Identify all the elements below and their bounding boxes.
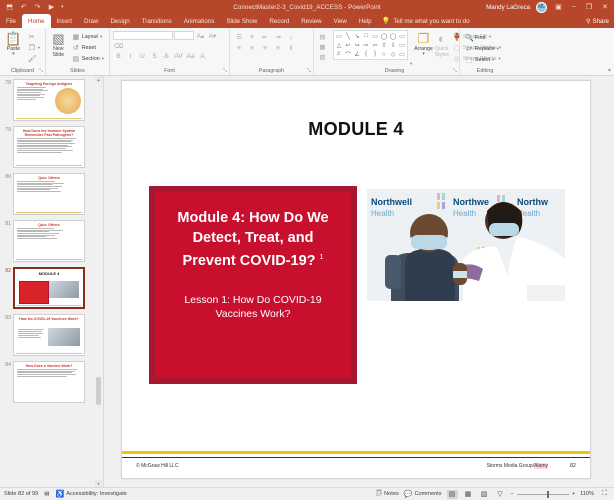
thumbnail-row-81[interactable]: 81 Quiz: Others [3, 220, 89, 262]
bold-button[interactable]: B [113, 52, 124, 61]
photo-credit-link[interactable]: Alamy [534, 463, 548, 469]
shape-down-arrow-icon[interactable]: ⇩ [389, 41, 397, 49]
save-icon[interactable]: ⬒ [5, 3, 14, 12]
select-caret-icon[interactable]: ▾ [492, 57, 494, 63]
card-heading-text: Module 4: How Do We Detect, Treat, and P… [177, 210, 328, 269]
shape-curve-icon[interactable]: ↩ [344, 41, 352, 49]
shape-left-arrow-icon[interactable]: ⇦ [371, 41, 379, 49]
thumbnail-row-84[interactable]: 84 How Does a Vaccine Work? [3, 361, 89, 403]
slide-thumbnail[interactable]: Quiz: Others [13, 173, 85, 215]
shape-triangle-icon[interactable]: △ [335, 41, 343, 49]
font-name-input[interactable] [113, 31, 173, 40]
status-bar: Slide 82 of 99 ▤ ♿ Accessibility: Invest… [0, 487, 614, 500]
quick-access-toolbar: ⬒ ↶ ↷ ▶ ▾ [0, 3, 64, 12]
share-person-icon: ⚲ [586, 18, 591, 25]
module-title-card[interactable]: Module 4: How Do We Detect, Treat, and P… [149, 186, 357, 384]
shape-diamond-icon[interactable]: ◇ [389, 50, 397, 58]
shape-left-brace-icon[interactable]: { [362, 50, 370, 58]
align-text-button[interactable]: ▦ [317, 42, 328, 51]
copy-caret-icon[interactable]: ▾ [38, 45, 40, 51]
slide-thumbnail[interactable]: How Does the Immune System Remember Past… [13, 126, 85, 168]
shape-freeform-icon[interactable]: ♬ [335, 50, 343, 58]
shape-right-brace-icon[interactable]: } [371, 50, 379, 58]
thumbnail-body [14, 368, 84, 378]
thumbnail-body [14, 227, 84, 240]
thumbnail-body [14, 137, 84, 153]
paragraph-extra-label [317, 67, 327, 75]
thumbnail-title: MODULE 4 [15, 269, 83, 276]
shape-more-1-icon[interactable]: ▭ [398, 32, 406, 40]
title-bar-right: Mandy LaGreca ML ▣ − ❐ ✕ [486, 2, 614, 13]
layout-label: Layout [82, 34, 98, 40]
vaccine-photo-illustration: Northwell Northwe Northw Health Health H… [367, 189, 565, 301]
layout-caret-icon[interactable]: ▾ [100, 34, 102, 40]
shape-right-arrow-icon[interactable]: ⇨ [362, 41, 370, 49]
columns-button[interactable]: ‖ [285, 43, 297, 53]
slide-with-caption: MODULE 4 Module 4: How Do We Detect, Tre… [121, 80, 591, 479]
copy-icon: ❐ [28, 44, 36, 52]
avatar[interactable]: ML [536, 2, 547, 13]
tab-file[interactable]: File [0, 14, 22, 28]
title-bar: ⬒ ↶ ↷ ▶ ▾ ConnectMaster2-3_Covid19_ACCES… [0, 0, 614, 14]
redo-icon[interactable]: ↷ [33, 3, 42, 12]
thumbnail-number: 83 [3, 314, 11, 321]
scroll-up-arrow-icon[interactable]: ▴ [95, 76, 102, 83]
tell-me-placeholder: Tell me what you want to do [393, 18, 469, 25]
paragraph-group-label: Paragraph [233, 67, 310, 75]
font-color-button[interactable]: A [197, 52, 208, 61]
slide-thumbnail-panel[interactable]: 78 Targeting Foreign Antigens [0, 76, 104, 487]
share-button[interactable]: ⚲ Share [586, 14, 614, 28]
thumbnail-row-79[interactable]: 79 How Does the Immune System Remember P… [3, 126, 89, 168]
align-right-button[interactable]: ≡ [259, 43, 271, 53]
notes-icon: 🗊 [376, 489, 382, 500]
layout-icon: ▦ [72, 33, 80, 41]
thumbnail-body [14, 180, 84, 193]
copy-button[interactable]: ❐▾ [26, 43, 42, 53]
justify-button[interactable]: ≡ [272, 43, 284, 53]
zoom-control[interactable]: − + [511, 491, 576, 497]
current-slide[interactable]: MODULE 4 Module 4: How Do We Detect, Tre… [121, 80, 591, 479]
align-center-button[interactable]: ≡ [246, 43, 258, 53]
slide-thumbnail[interactable]: Quiz: Others [13, 220, 85, 262]
bullets-button[interactable]: ☰ [233, 32, 245, 42]
ribbon-tab-bar: File Home Insert Draw Design Transitions… [0, 14, 614, 28]
numbering-button[interactable]: ≡ [246, 32, 258, 42]
decrease-indent-button[interactable]: ⇤ [259, 32, 271, 42]
customize-qat-caret-icon[interactable]: ▾ [61, 4, 64, 10]
ribbon-group-paragraph: ☰ ≡ ⇤ ⇥ ↕ ≡ ≡ ≡ ≡ ‖ Paragraph ⤡ [230, 28, 314, 75]
user-name-label: Mandy LaGreca [486, 4, 530, 11]
shape-rounded-rect-icon[interactable]: ▭ [371, 32, 379, 40]
shape-circle-icon[interactable]: ◯ [380, 32, 388, 40]
thumbnail-row-80[interactable]: 80 Quiz: Others [3, 173, 89, 215]
convert-smartart-button[interactable]: ▧ [317, 52, 328, 61]
card-heading-superscript: 1 [320, 254, 324, 261]
tell-me-search[interactable]: 💡 Tell me what you want to do [382, 14, 470, 28]
svg-text:Health: Health [371, 209, 394, 218]
ribbon-group-drawing: ▭ ╲ ↘ □ ▭ ◯ ◯ ▭ △ ↩ ↪ ⇨ ⇦ ⇧ ⇩ ▭ ♬ [330, 28, 460, 75]
cut-button[interactable]: ✂ [26, 32, 42, 42]
paragraph-dialog-launcher-icon[interactable]: ⤡ [307, 68, 311, 74]
fit-to-window-icon[interactable]: ⛶ [599, 490, 610, 499]
strikethrough-button[interactable]: ̶S [161, 52, 172, 61]
paste-caret-icon[interactable]: ▾ [12, 52, 15, 56]
scroll-down-arrow-icon[interactable]: ▾ [95, 480, 102, 487]
text-direction-button[interactable]: ▤ [317, 32, 328, 41]
shape-square-icon[interactable]: □ [362, 32, 370, 40]
accessibility-label: Accessibility: Investigate [66, 491, 127, 497]
svg-text:Northwell: Northwell [371, 197, 412, 207]
reset-button[interactable]: ↺Reset [70, 43, 106, 53]
comments-label: Comments [414, 491, 441, 497]
tab-view[interactable]: View [328, 14, 353, 28]
tab-animations[interactable]: Animations [178, 14, 221, 28]
thumbnail-number: 79 [3, 126, 11, 133]
quick-styles-icon: ◐ [438, 32, 446, 45]
shape-rectangle-icon[interactable]: ▭ [335, 32, 343, 40]
replace-icon: ⇄ [465, 45, 473, 53]
change-case-button[interactable]: Aa [185, 52, 196, 61]
section-icon: ▤ [72, 55, 80, 63]
thumbnail-scrollbar[interactable] [95, 77, 102, 486]
ribbon-group-editing: 🔍Find ⇄Replace▾ ⬚Select▾ Editing [460, 28, 510, 75]
tab-draw[interactable]: Draw [78, 14, 104, 28]
clipboard-dialog-launcher-icon[interactable]: ⤡ [39, 68, 43, 74]
shape-angle-icon[interactable]: ∠ [353, 50, 361, 58]
share-label: Share [592, 18, 609, 25]
thumbnail-row-83[interactable]: 83 How Do COVID-19 Vaccines Work? [3, 314, 89, 356]
slide-counter[interactable]: Slide 82 of 99 [4, 491, 38, 497]
shape-star-icon[interactable]: ☆ [380, 50, 388, 58]
slide-thumbnail[interactable]: Targeting Foreign Antigens [13, 79, 85, 121]
tab-slide-show[interactable]: Slide Show [220, 14, 263, 28]
line-spacing-button[interactable]: ↕ [285, 32, 297, 42]
section-label: Section [82, 56, 100, 62]
close-icon[interactable]: ✕ [600, 4, 610, 11]
main-area: 78 Targeting Foreign Antigens [0, 76, 614, 487]
slide-thumbnail-list: 78 Targeting Foreign Antigens [0, 76, 103, 406]
arrange-icon: ❐ [418, 32, 430, 45]
collapse-ribbon-icon[interactable]: ▴ [608, 66, 611, 73]
shape-connector-icon[interactable]: ↪ [353, 41, 361, 49]
powerpoint-window: ⬒ ↶ ↷ ▶ ▾ ConnectMaster2-3_Covid19_ACCES… [0, 0, 614, 500]
zoom-slider[interactable] [517, 494, 569, 495]
zoom-out-button[interactable]: − [511, 491, 514, 497]
slide-accent-bar [122, 451, 590, 454]
clipboard-group-label: Clipboard [3, 67, 42, 75]
drawing-group-label: Drawing [333, 67, 456, 75]
search-icon: 🔍 [465, 34, 473, 42]
tab-home[interactable]: Home [22, 14, 51, 28]
vaccine-photo[interactable]: Northwell Northwe Northw Health Health H… [367, 189, 565, 301]
font-group-label: Font [113, 67, 226, 75]
undo-icon[interactable]: ↶ [19, 3, 28, 12]
slides-group-label: Slides [49, 67, 106, 75]
arrange-caret-icon[interactable]: ▾ [422, 52, 425, 56]
slide-thumbnail[interactable]: How Do COVID-19 Vaccines Work? [13, 314, 85, 356]
zoom-level-label[interactable]: 110% [580, 491, 594, 497]
select-icon: ⬚ [465, 56, 473, 64]
card-subheading: Lesson 1: How Do COVID-19 Vaccines Work? [167, 293, 339, 321]
scissors-icon: ✂ [28, 33, 36, 41]
slide-thumbnail-selected[interactable]: MODULE 4 [13, 267, 85, 309]
tab-design[interactable]: Design [104, 14, 135, 28]
notes-button[interactable]: 🗊 Notes [376, 489, 399, 500]
restore-icon[interactable]: ❐ [584, 4, 594, 11]
normal-view-button[interactable]: ▤ [447, 490, 458, 499]
slide-editor: MODULE 4 Module 4: How Do We Detect, Tre… [104, 76, 614, 487]
ribbon-display-options-icon[interactable]: ▣ [553, 4, 564, 11]
shape-arrow-icon[interactable]: ↘ [353, 32, 361, 40]
svg-text:Health: Health [453, 209, 476, 218]
accessibility-checker-button[interactable]: ♿ Accessibility: Investigate [56, 490, 127, 498]
slide-divider-line [122, 457, 590, 458]
accessibility-icon: ♿ [56, 490, 65, 498]
new-slide-button[interactable]: ▧ New Slide [49, 30, 68, 58]
new-slide-label: New Slide [49, 46, 68, 58]
section-button[interactable]: ▤Section▾ [70, 54, 106, 64]
font-dialog-launcher-icon[interactable]: ⤡ [223, 68, 227, 74]
replace-label: Replace [475, 46, 495, 52]
font-size-input[interactable] [174, 31, 194, 40]
increase-font-size-button[interactable]: A▴ [195, 31, 206, 40]
ribbon-group-clipboard: 📋 Paste ▾ ✂ ❐▾ 🖌 Clipboard ⤡ [0, 28, 46, 75]
start-presentation-icon[interactable]: ▶ [47, 3, 56, 12]
photo-credit: Storms Media Group/Alamy [487, 463, 548, 469]
ribbon: 📋 Paste ▾ ✂ ❐▾ 🖌 Clipboard ⤡ ▧ New Slide [0, 28, 614, 76]
align-left-button[interactable]: ≡ [233, 43, 245, 53]
slide-page-number: 82 [570, 463, 576, 469]
svg-text:Northwe: Northwe [453, 197, 489, 207]
ribbon-group-slides: ▧ New Slide ▦Layout▾ ↺Reset ▤Section▾ Sl… [46, 28, 110, 75]
decrease-font-size-button[interactable]: A▾ [207, 31, 218, 40]
find-button[interactable]: 🔍Find [463, 33, 501, 43]
shape-line-icon[interactable]: ╲ [344, 32, 352, 40]
replace-caret-icon[interactable]: ▾ [497, 46, 499, 52]
find-label: Find [475, 35, 486, 41]
status-bar-right: 🗊 Notes 💬 Comments ▤ ▦ ▧ ▽ − + 110% ⛶ [376, 489, 610, 500]
increase-indent-button[interactable]: ⇥ [272, 32, 284, 42]
paste-icon: 📋 [5, 32, 21, 45]
comments-button[interactable]: 💬 Comments [404, 490, 442, 498]
tab-help[interactable]: Help [353, 14, 378, 28]
zoom-in-button[interactable]: + [572, 491, 575, 497]
thumbnail-number: 82 [3, 267, 11, 274]
select-button[interactable]: ⬚Select▾ [463, 55, 501, 65]
tab-insert[interactable]: Insert [51, 14, 78, 28]
shape-oval-icon[interactable]: ◯ [389, 32, 397, 40]
copyright-text: © McGraw Hill LLC [136, 463, 179, 469]
character-spacing-button[interactable]: AV [173, 52, 184, 61]
thumbnail-row-82[interactable]: 82 MODULE 4 [3, 267, 89, 309]
thumbnail-title: How Does the Immune System Remember Past… [14, 127, 84, 137]
minimize-icon[interactable]: − [570, 4, 578, 11]
shape-up-arrow-icon[interactable]: ⇧ [380, 41, 388, 49]
thumbnail-scrollbar-thumb[interactable] [96, 377, 101, 405]
reading-view-button[interactable]: ▧ [479, 490, 490, 499]
underline-button[interactable]: U [137, 52, 148, 61]
editing-group-label: Editing [463, 67, 507, 75]
tab-review[interactable]: Review [295, 14, 327, 28]
paste-button[interactable]: 📋 Paste ▾ [3, 30, 24, 56]
photo-credit-source: Storms Media Group/ [487, 463, 535, 469]
arrange-button[interactable]: ❐ Arrange ▾ [414, 30, 432, 56]
tab-transitions[interactable]: Transitions [136, 14, 178, 28]
ribbon-group-paragraph-extra: ▤ ▦ ▧ [314, 28, 330, 75]
svg-text:Northw: Northw [517, 197, 549, 207]
thumbnail-number: 84 [3, 361, 11, 368]
thumbnail-number: 80 [3, 173, 11, 180]
slide-sorter-view-button[interactable]: ▦ [463, 490, 474, 499]
thumbnail-row-78[interactable]: 78 Targeting Foreign Antigens [3, 79, 89, 121]
thumbnail-number: 78 [3, 79, 11, 86]
clear-formatting-button[interactable]: ⌫ [113, 41, 124, 50]
shape-arc-icon[interactable]: ⌒ [344, 50, 352, 58]
drawing-dialog-launcher-icon[interactable]: ⤡ [453, 68, 457, 74]
lightbulb-icon: 💡 [382, 17, 391, 25]
italic-button[interactable]: I [125, 52, 136, 61]
slide-thumbnail[interactable]: How Does a Vaccine Work? [13, 361, 85, 403]
new-slide-icon: ▧ [52, 32, 64, 45]
section-caret-icon[interactable]: ▾ [102, 56, 104, 62]
shape-more-3-icon[interactable]: ▭ [398, 50, 406, 58]
language-icon[interactable]: ▤ [44, 491, 49, 497]
thumbnail-number: 81 [3, 220, 11, 227]
slideshow-view-button[interactable]: ▽ [495, 490, 506, 499]
tab-record[interactable]: Record [263, 14, 295, 28]
shapes-gallery[interactable]: ▭ ╲ ↘ □ ▭ ◯ ◯ ▭ △ ↩ ↪ ⇨ ⇦ ⇧ ⇩ ▭ ♬ [333, 30, 408, 60]
slide-title[interactable]: MODULE 4 [122, 119, 590, 140]
format-painter-button[interactable]: 🖌 [26, 54, 42, 64]
zoom-slider-knob[interactable] [547, 491, 549, 498]
thumbnail-title: How Do COVID-19 Vaccines Work? [14, 315, 84, 321]
text-shadow-button[interactable]: S [149, 52, 160, 61]
layout-button[interactable]: ▦Layout▾ [70, 32, 106, 42]
comments-icon: 💬 [404, 490, 413, 498]
reset-label: Reset [82, 45, 96, 51]
notes-label: Notes [384, 491, 399, 497]
shape-more-2-icon[interactable]: ▭ [398, 41, 406, 49]
ribbon-group-font: A▴ A▾ ⌫ B I U S ̶S AV Aa A Font ⤡ [110, 28, 230, 75]
select-label: Select [475, 57, 490, 63]
format-painter-icon: 🖌 [28, 55, 36, 63]
card-heading: Module 4: How Do We Detect, Treat, and P… [167, 208, 339, 271]
quick-styles-button[interactable]: ◐ Quick Styles [435, 30, 449, 58]
replace-button[interactable]: ⇄Replace▾ [463, 44, 501, 54]
quick-styles-label: Quick Styles [435, 46, 449, 58]
reset-icon: ↺ [72, 44, 80, 52]
